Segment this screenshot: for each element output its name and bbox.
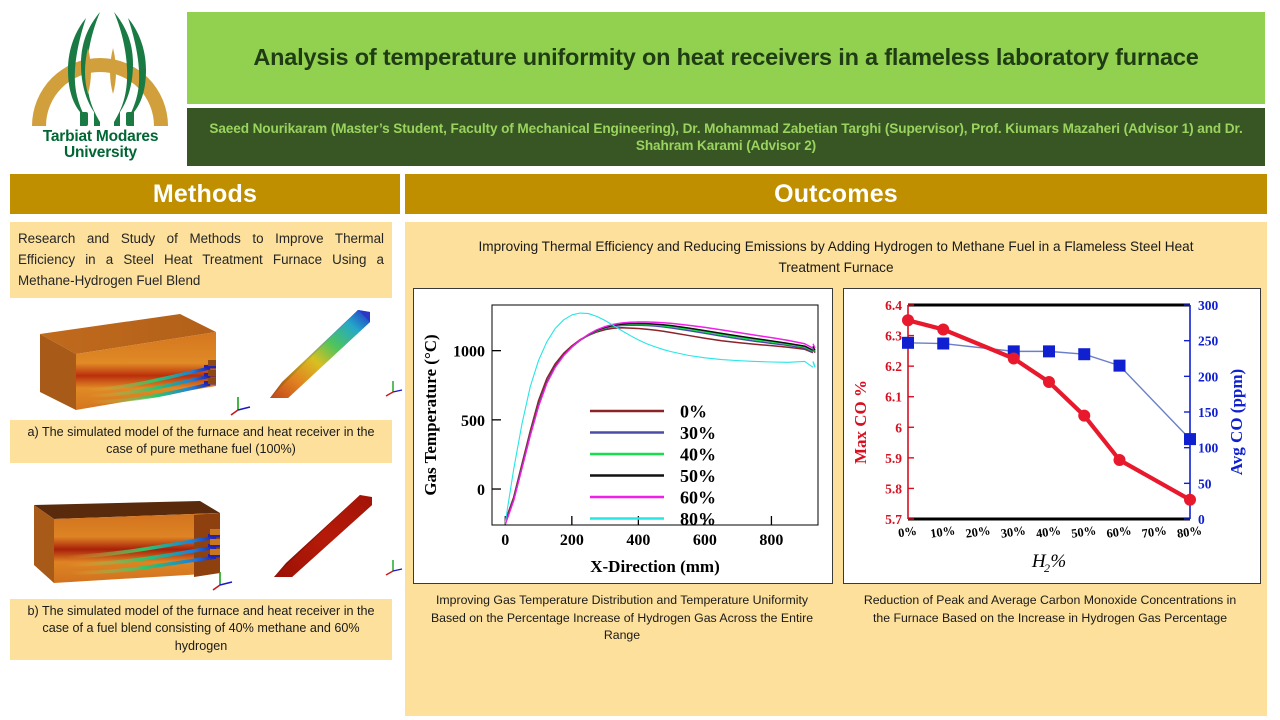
y-right-tick-label: 250: [1198, 334, 1219, 349]
max-co-marker: [1184, 494, 1196, 506]
y-tick-label: 500: [461, 413, 485, 430]
y-left-tick-label: 6.2: [885, 359, 902, 374]
y-tick-label: 1000: [453, 344, 485, 361]
avg-co-marker: [902, 337, 914, 349]
legend-label-30pct: 30%: [680, 423, 716, 443]
charts-row: 050010000200400600800X-Direction (mm)Gas…: [405, 288, 1267, 584]
avg-co-marker: [1078, 348, 1090, 360]
x-tick-label: 40%: [1035, 523, 1062, 540]
poster-root: Tarbiat Modares University Analysis of t…: [0, 0, 1280, 720]
poster-title-bar: Analysis of temperature uniformity on he…: [187, 12, 1265, 104]
legend-label-80pct: 80%: [680, 509, 716, 529]
gas-temperature-plot: 050010000200400600800X-Direction (mm)Gas…: [414, 289, 832, 583]
max-co-marker: [1008, 353, 1020, 365]
author-bar: Saeed Nourikaram (Master’s Student, Facu…: [187, 108, 1265, 166]
coordinate-triad-icon-a: [228, 394, 252, 416]
author-list: Saeed Nourikaram (Master’s Student, Facu…: [197, 120, 1255, 155]
chart-caption-right: Reduction of Peak and Average Carbon Mon…: [841, 584, 1259, 644]
avg-co-marker: [1114, 360, 1126, 372]
heat-receiver-b-image: [264, 489, 382, 587]
co-emissions-chart: 5.75.85.966.16.26.36.4050100150200250300…: [843, 288, 1261, 584]
y-left-tick-label: 6: [895, 420, 902, 435]
avg-co-marker: [1043, 345, 1055, 357]
x-axis-title: X-Direction (mm): [590, 557, 720, 576]
y-left-axis-title: Max CO %: [851, 380, 870, 464]
methods-column: Research and Study of Methods to Improve…: [10, 222, 400, 716]
heat-receiver-a-image: [258, 304, 378, 408]
section-header-outcomes: Outcomes: [405, 174, 1267, 214]
furnace-model-a-image: [32, 302, 224, 418]
gas-temperature-chart: 050010000200400600800X-Direction (mm)Gas…: [413, 288, 833, 584]
furnace-model-b-image: [28, 479, 228, 597]
x-tick-label: 30%: [1000, 523, 1027, 540]
page-title: Analysis of temperature uniformity on he…: [253, 43, 1198, 72]
coordinate-triad-icon-a2: [384, 378, 404, 398]
max-co-marker: [937, 324, 949, 336]
y-right-tick-label: 150: [1198, 405, 1219, 420]
y-tick-label: 0: [477, 482, 485, 499]
simulation-caption-b: b) The simulated model of the furnace an…: [10, 599, 392, 660]
chart-captions-row: Improving Gas Temperature Distribution a…: [405, 584, 1267, 644]
legend-label-60pct: 60%: [680, 488, 716, 508]
simulation-caption-a: a) The simulated model of the furnace an…: [10, 420, 392, 463]
methods-intro-text: Research and Study of Methods to Improve…: [10, 222, 392, 298]
coordinate-triad-icon-b2: [384, 557, 404, 577]
section-header-methods: Methods: [10, 174, 400, 214]
legend-label-50pct: 50%: [680, 466, 716, 486]
y-left-tick-label: 5.9: [885, 451, 902, 466]
y-left-tick-label: 6.3: [885, 329, 902, 344]
co-emissions-plot: 5.75.85.966.16.26.36.4050100150200250300…: [844, 289, 1260, 583]
y-right-tick-label: 50: [1198, 476, 1212, 491]
y-right-tick-label: 100: [1198, 441, 1219, 456]
outcomes-column: Improving Thermal Efficiency and Reducin…: [405, 222, 1267, 716]
x-tick-label: 600: [693, 532, 717, 549]
simulation-figure-a: a) The simulated model of the furnace an…: [10, 298, 400, 463]
y-left-tick-label: 6.4: [885, 298, 902, 313]
x-axis-title-subscript: 2: [1044, 561, 1050, 575]
y-left-tick-label: 5.8: [885, 482, 902, 497]
x-tick-label: 60%: [1106, 523, 1133, 540]
x-tick-label: 0%: [897, 524, 918, 540]
y-axis-title: Gas Temperature (°C): [421, 334, 440, 495]
x-tick-label: 400: [626, 532, 650, 549]
x-tick-label: 20%: [965, 523, 992, 540]
arch-shape: [32, 58, 168, 126]
y-right-tick-label: 200: [1198, 369, 1219, 384]
x-tick-label: 50%: [1070, 523, 1097, 540]
legend-label-40pct: 40%: [680, 445, 716, 465]
avg-co-marker: [1184, 433, 1196, 445]
simulation-images-a: [10, 298, 400, 420]
x-tick-label: 0: [501, 532, 509, 549]
logo-mark: [18, 8, 183, 133]
x-tick-label: 70%: [1141, 523, 1168, 540]
x-tick-label: 800: [759, 532, 783, 549]
outcomes-intro-text: Improving Thermal Efficiency and Reducin…: [405, 222, 1267, 288]
logo-wordmark: Tarbiat Modares University: [18, 129, 183, 161]
chart-caption-left: Improving Gas Temperature Distribution a…: [413, 584, 831, 644]
avg-co-marker: [937, 338, 949, 350]
x-tick-label: 200: [560, 532, 584, 549]
y-left-tick-label: 5.7: [885, 512, 902, 527]
max-co-marker: [1078, 410, 1090, 422]
simulation-figure-b: b) The simulated model of the furnace an…: [10, 477, 400, 660]
x-tick-label: 80%: [1176, 523, 1203, 540]
y-right-axis-title: Avg CO (ppm): [1227, 369, 1246, 475]
y-right-tick-label: 300: [1198, 298, 1219, 313]
legend-label-0pct: 0%: [680, 402, 707, 422]
university-logo: Tarbiat Modares University: [18, 8, 183, 168]
max-co-marker: [1043, 376, 1055, 388]
max-co-marker: [1114, 454, 1126, 466]
logo-line-2: University: [18, 145, 183, 161]
section-label-outcomes: Outcomes: [774, 180, 898, 209]
section-label-methods: Methods: [153, 180, 257, 209]
max-co-marker: [902, 314, 914, 326]
y-left-tick-label: 6.1: [885, 390, 902, 405]
simulation-images-b: [10, 477, 400, 599]
x-tick-label: 10%: [929, 523, 956, 540]
logo-line-1: Tarbiat Modares: [18, 129, 183, 145]
coordinate-triad-icon-b: [210, 569, 234, 591]
